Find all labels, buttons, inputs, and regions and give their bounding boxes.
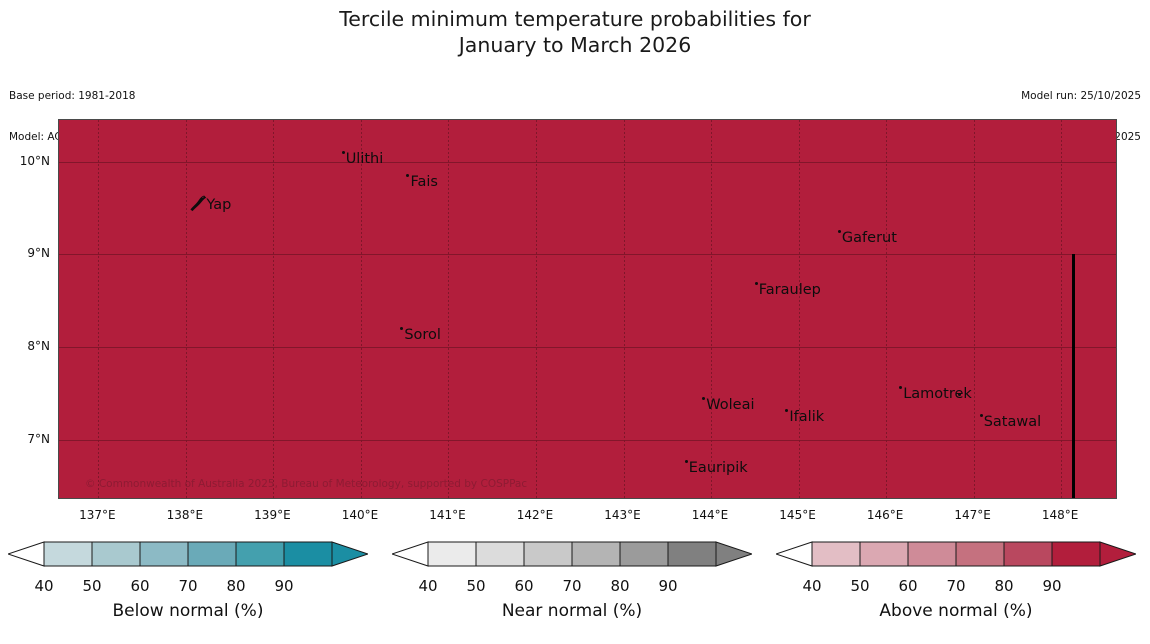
colorbar-under-arrow: [8, 542, 44, 566]
place-label-woleai: Woleai: [702, 398, 754, 412]
map-plot-area[interactable]: YapUlithiFaisGaferutFaraulepSorolWoleaiI…: [58, 119, 1117, 499]
place-name-text: Lamotrek: [903, 386, 972, 402]
place-label-faraulep: Faraulep: [755, 283, 821, 297]
island-marker-unlabelled: [958, 394, 961, 408]
colorbar-tick-80: 80: [994, 577, 1013, 595]
longitude-tick-9: 146°E: [867, 508, 904, 522]
colorbar-segment: [956, 542, 1004, 566]
gridline-lon-2: [273, 120, 274, 498]
island-marker-dot: [838, 230, 841, 233]
colorbar-segment: [908, 542, 956, 566]
colorbar-tick-50: 50: [82, 577, 101, 595]
colorbar-segment: [524, 542, 572, 566]
island-marker-dot: [406, 174, 409, 177]
place-label-yap: Yap: [205, 198, 231, 212]
colorbar-segment: [860, 542, 908, 566]
longitude-tick-5: 142°E: [517, 508, 554, 522]
latitude-tick-1: 9°N: [27, 246, 50, 260]
place-name-text: Satawal: [984, 414, 1041, 430]
colorbar-tick-70: 70: [178, 577, 197, 595]
place-name-text: Woleai: [706, 397, 754, 413]
island-marker-dot: [685, 460, 688, 463]
colorbar-tick-80: 80: [226, 577, 245, 595]
place-name-text: Gaferut: [842, 230, 897, 246]
latitude-tick-2: 8°N: [27, 339, 50, 353]
place-label-sorol: Sorol: [400, 328, 441, 342]
latitude-tick-3: 7°N: [27, 432, 50, 446]
title-line-1: Tercile minimum temperature probabilitie…: [0, 6, 1150, 32]
colorbar-below-normal-ticks: 405060708090: [8, 577, 368, 597]
longitude-tick-8: 145°E: [779, 508, 816, 522]
colorbar-segment: [1052, 542, 1100, 566]
colorbar-segment: [140, 542, 188, 566]
colorbar-segment: [1004, 542, 1052, 566]
gridline-lat-1: [59, 254, 1116, 255]
colorbar-above-normal-label: Above normal (%): [776, 601, 1136, 621]
colorbar-below-normal-swatches: [8, 540, 368, 576]
gridline-lat-3: [59, 440, 1116, 441]
colorbar-over-arrow: [332, 542, 368, 566]
colorbar-segment: [620, 542, 668, 566]
gridline-lon-5: [536, 120, 537, 498]
place-label-ulithi: Ulithi: [342, 152, 384, 166]
colorbar-under-arrow: [776, 542, 812, 566]
colorbar-near-normal-swatches: [392, 540, 752, 576]
colorbar-segment: [476, 542, 524, 566]
gridline-lat-2: [59, 347, 1116, 348]
colorbar-segment: [92, 542, 140, 566]
colorbar-tick-60: 60: [514, 577, 533, 595]
colorbar-tick-90: 90: [1042, 577, 1061, 595]
island-marker-dot: [400, 327, 403, 330]
place-name-text: Ifalik: [789, 409, 824, 425]
colorbar-tick-80: 80: [610, 577, 629, 595]
colorbar-under-arrow: [392, 542, 428, 566]
colorbar-segment: [428, 542, 476, 566]
place-name-text: Yap: [206, 197, 231, 213]
colorbar-segment: [188, 542, 236, 566]
colorbar-tick-90: 90: [274, 577, 293, 595]
longitude-tick-7: 144°E: [692, 508, 729, 522]
island-marker-dot: [342, 151, 345, 154]
gridline-lon-0: [98, 120, 99, 498]
longitude-tick-10: 147°E: [954, 508, 991, 522]
place-name-text: Sorol: [404, 327, 441, 343]
place-label-ifalik: Ifalik: [785, 410, 824, 424]
gridline-lon-1: [186, 120, 187, 498]
place-label-eauripik: Eauripik: [685, 461, 748, 475]
colorbar-above-normal-ticks: 405060708090: [776, 577, 1136, 597]
model-run-text: Model run: 25/10/2025: [1021, 90, 1141, 104]
place-label-lamotrek: Lamotrek: [899, 387, 972, 401]
gridline-lon-10: [974, 120, 975, 498]
colorbar-tick-60: 60: [898, 577, 917, 595]
longitude-tick-1: 138°E: [167, 508, 204, 522]
place-name-text: Eauripik: [689, 460, 748, 476]
longitude-tick-0: 137°E: [79, 508, 116, 522]
colorbar-tick-40: 40: [418, 577, 437, 595]
gridline-lon-3: [361, 120, 362, 498]
latitude-tick-0: 10°N: [20, 154, 50, 168]
colorbar-tick-90: 90: [658, 577, 677, 595]
colorbar-tick-70: 70: [946, 577, 965, 595]
gridline-lon-8: [799, 120, 800, 498]
place-label-gaferut: Gaferut: [838, 231, 897, 245]
colorbar-below-normal[interactable]: 405060708090 Below normal (%): [8, 540, 368, 636]
colorbar-near-normal-ticks: 405060708090: [392, 577, 752, 597]
place-name-text: Ulithi: [346, 151, 384, 167]
gridline-lon-6: [624, 120, 625, 498]
colorbar-near-normal[interactable]: 405060708090 Near normal (%): [392, 540, 752, 636]
longitude-tick-2: 139°E: [254, 508, 291, 522]
colorbar-over-arrow: [716, 542, 752, 566]
colorbar-segment: [284, 542, 332, 566]
colorbar-segment: [572, 542, 620, 566]
island-marker-dot: [980, 414, 983, 417]
island-marker-dot: [785, 409, 788, 412]
gridline-lon-9: [886, 120, 887, 498]
colorbar-tick-60: 60: [130, 577, 149, 595]
place-name-text: Fais: [410, 174, 437, 190]
colorbar-segment: [812, 542, 860, 566]
colorbar-tick-50: 50: [466, 577, 485, 595]
place-label-satawal: Satawal: [980, 415, 1041, 429]
page-title: Tercile minimum temperature probabilitie…: [0, 6, 1150, 58]
longitude-tick-6: 143°E: [604, 508, 641, 522]
colorbar-near-normal-label: Near normal (%): [392, 601, 752, 621]
base-period-text: Base period: 1981-2018: [9, 90, 135, 104]
colorbar-segment: [236, 542, 284, 566]
place-name-text: Faraulep: [759, 282, 821, 298]
colorbar-above-normal-swatches: [776, 540, 1136, 576]
colorbar-over-arrow: [1100, 542, 1136, 566]
colorbar-tick-70: 70: [562, 577, 581, 595]
place-label-fais: Fais: [406, 175, 437, 189]
colorbar-segment: [668, 542, 716, 566]
longitude-tick-11: 148°E: [1042, 508, 1079, 522]
colorbar-segment: [44, 542, 92, 566]
gridline-lon-7: [711, 120, 712, 498]
gridline-lon-11: [1061, 120, 1062, 498]
island-marker-dot: [899, 386, 902, 389]
longitude-tick-4: 141°E: [429, 508, 466, 522]
meridian-marker-line: [1072, 254, 1075, 499]
copyright-text: © Commonwealth of Australia 2025, Bureau…: [85, 478, 527, 490]
colorbar-above-normal[interactable]: 405060708090 Above normal (%): [776, 540, 1136, 636]
colorbar-tick-50: 50: [850, 577, 869, 595]
gridline-lat-0: [59, 162, 1116, 163]
colorbar-below-normal-label: Below normal (%): [8, 601, 368, 621]
island-marker-dot: [702, 397, 705, 400]
island-marker-dot: [755, 282, 758, 285]
colorbar-tick-40: 40: [802, 577, 821, 595]
colorbar-tick-40: 40: [34, 577, 53, 595]
gridline-lon-4: [448, 120, 449, 498]
longitude-tick-3: 140°E: [342, 508, 379, 522]
island-marker-dot: [958, 393, 961, 396]
title-line-2: January to March 2026: [0, 32, 1150, 58]
